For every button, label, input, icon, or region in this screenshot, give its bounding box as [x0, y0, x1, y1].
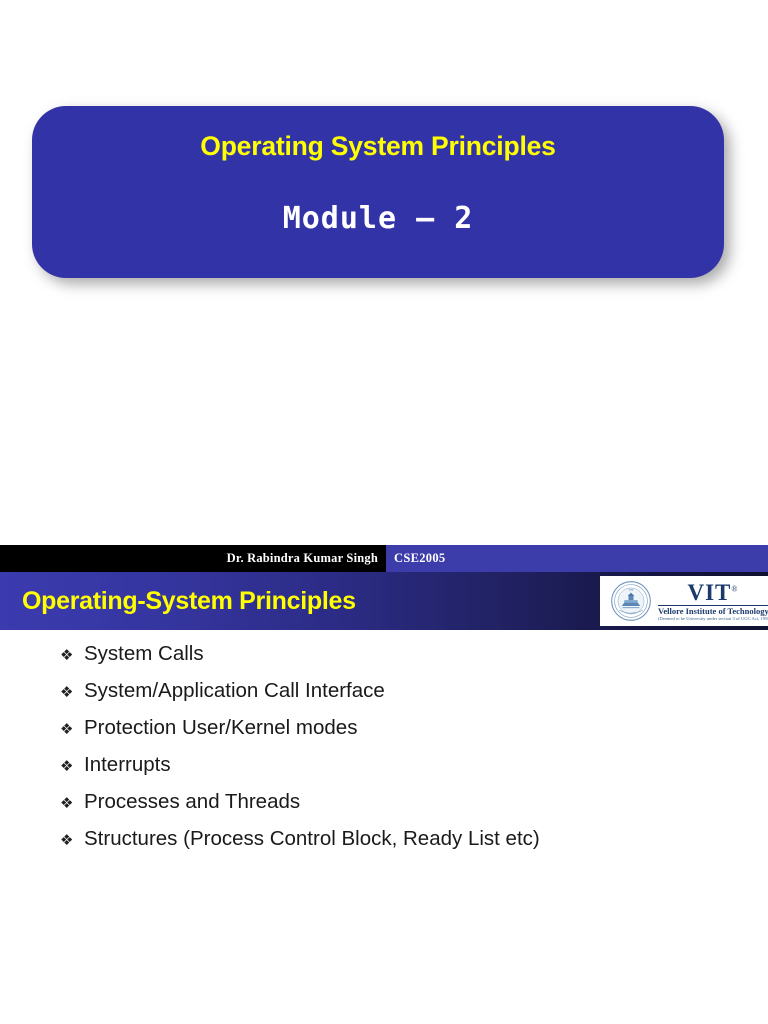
diamond-bullet-icon: ❖: [60, 833, 84, 848]
list-item-label: System Calls: [84, 644, 204, 665]
title-box: Operating System Principles Module – 2: [32, 106, 724, 278]
vit-letters: VIT®: [658, 581, 768, 604]
content-slide: Dr. Rabindra Kumar Singh CSE2005 Operati…: [0, 540, 768, 1024]
vit-letters-text: VIT: [688, 581, 732, 605]
title-slide: Operating System Principles Module – 2: [0, 0, 768, 540]
list-item: ❖System Calls: [0, 644, 768, 681]
vit-logo: VIT VIT® Vellore Institute of Technology…: [600, 576, 768, 626]
svg-text:VIT: VIT: [629, 588, 634, 592]
module-label: Module – 2: [32, 161, 724, 236]
diamond-bullet-icon: ❖: [60, 796, 84, 811]
list-item-label: Processes and Threads: [84, 792, 300, 813]
topic-list: ❖System Calls❖System/Application Call In…: [0, 644, 768, 866]
slide-header-title: Operating-System Principles: [0, 587, 356, 616]
vit-tagline: (Deemed to be University under section 3…: [658, 616, 768, 621]
registered-mark: ®: [731, 584, 738, 593]
list-item: ❖Processes and Threads: [0, 792, 768, 829]
list-item-label: Protection User/Kernel modes: [84, 718, 357, 739]
list-item-label: Interrupts: [84, 755, 171, 776]
list-item-label: Structures (Process Control Block, Ready…: [84, 829, 540, 850]
presenter-name: Dr. Rabindra Kumar Singh: [227, 551, 378, 566]
list-item: ❖Interrupts: [0, 755, 768, 792]
presenter-bar: Dr. Rabindra Kumar Singh CSE2005: [0, 545, 768, 572]
page-title: Operating System Principles: [32, 132, 724, 161]
list-item: ❖Protection User/Kernel modes: [0, 718, 768, 755]
list-item: ❖System/Application Call Interface: [0, 681, 768, 718]
diamond-bullet-icon: ❖: [60, 759, 84, 774]
vit-seal-icon: VIT: [610, 580, 652, 622]
vit-wordmark: VIT® Vellore Institute of Technology (De…: [658, 581, 768, 622]
vit-full-name: Vellore Institute of Technology: [658, 607, 768, 616]
list-item-label: System/Application Call Interface: [84, 681, 385, 702]
presenter-name-block: Dr. Rabindra Kumar Singh: [0, 545, 386, 572]
diamond-bullet-icon: ❖: [60, 648, 84, 663]
diamond-bullet-icon: ❖: [60, 685, 84, 700]
diamond-bullet-icon: ❖: [60, 722, 84, 737]
course-code: CSE2005: [394, 545, 445, 572]
list-item: ❖Structures (Process Control Block, Read…: [0, 829, 768, 866]
